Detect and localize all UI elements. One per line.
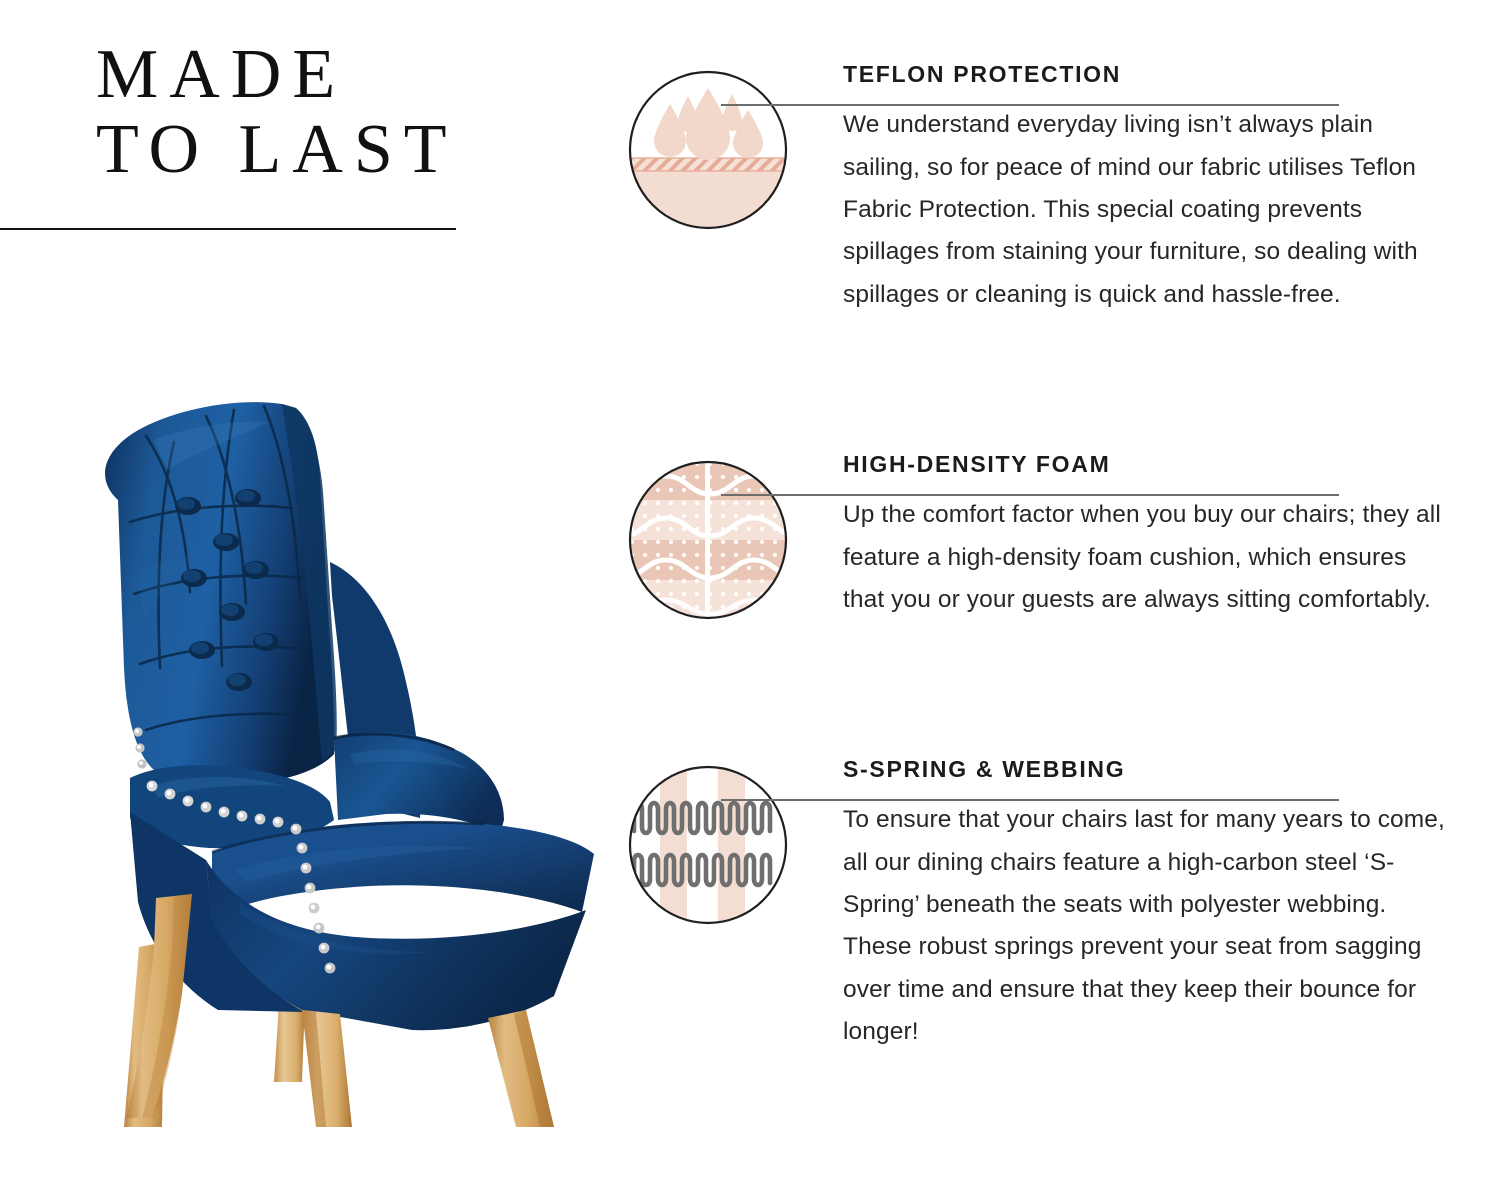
- heading-divider: [721, 494, 1339, 496]
- page-title-line-1: MADE: [0, 38, 470, 113]
- feature-description: Up the comfort factor when you buy our c…: [843, 486, 1448, 621]
- feature-body: HIGH-DENSITY FOAM Up the comfort factor …: [843, 452, 1448, 621]
- heading-divider: [721, 104, 1339, 106]
- high-density-foam-cells-icon: [628, 460, 788, 620]
- feature-description: We understand everyday living isn’t alwa…: [843, 96, 1448, 316]
- feature-heading: HIGH-DENSITY FOAM: [843, 452, 1448, 486]
- page-title: MADE TO LAST: [0, 38, 470, 188]
- product-photo-chair: [34, 382, 609, 1127]
- page-title-line-2: TO LAST: [0, 113, 470, 188]
- feature-heading: S-SPRING & WEBBING: [843, 757, 1448, 791]
- infographic-page: MADE TO LAST: [0, 0, 1500, 1200]
- heading-divider: [721, 799, 1339, 801]
- water-droplets-on-coated-fabric-icon: [628, 70, 788, 230]
- s-spring-and-webbing-icon: [628, 765, 788, 925]
- title-divider: [0, 228, 456, 230]
- feature-body: S-SPRING & WEBBING To ensure that your c…: [843, 757, 1448, 1054]
- feature-heading: TEFLON PROTECTION: [843, 62, 1448, 96]
- feature-body: TEFLON PROTECTION We understand everyday…: [843, 62, 1448, 316]
- feature-description: To ensure that your chairs last for many…: [843, 791, 1448, 1053]
